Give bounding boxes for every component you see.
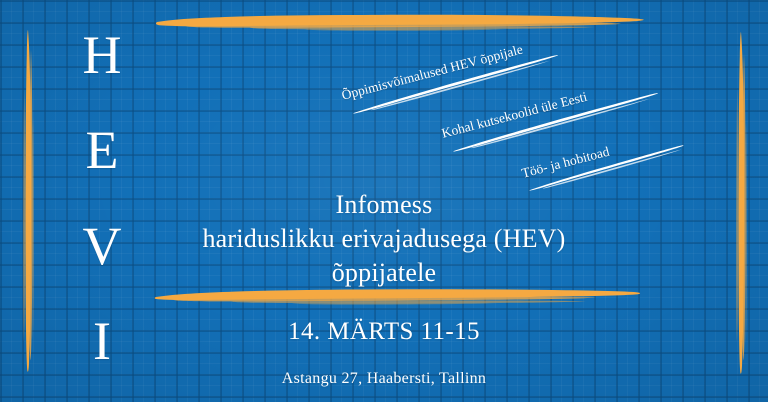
hevi-letter-e: E — [86, 123, 119, 177]
tagline-group: Õppimisvõimalused HEV õppijale Kohal kut… — [330, 38, 690, 188]
tagline-vocational-schools: Kohal kutsekoolid üle Eesti — [440, 89, 589, 142]
orange-brush-stroke-right-icon — [728, 30, 754, 375]
orange-brush-stroke-top-icon — [155, 8, 645, 34]
hevi-letter-v: V — [83, 219, 122, 273]
orange-brush-stroke-left-icon — [16, 28, 42, 373]
hevi-acronym: H E V I — [66, 28, 138, 368]
tagline-learning-opportunities: Õppimisvõimalused HEV õppijale — [340, 42, 525, 104]
event-address: Astangu 27, Haabersti, Tallinn — [144, 370, 624, 388]
tagline-workshops: Töö- ja hobitoad — [520, 144, 611, 182]
hevi-letter-h: H — [83, 28, 122, 82]
poster-canvas: H E V I Õppimisvõimalused HEV õppijale K… — [0, 0, 768, 402]
event-date: 14. MÄRTS 11-15 — [144, 318, 624, 346]
title-line-3: õppijatele — [144, 256, 624, 290]
title-line-1: Infomess — [144, 188, 624, 222]
hevi-letter-i: I — [93, 314, 111, 368]
title-line-2: hariduslikku erivajadusega (HEV) — [144, 222, 624, 256]
page-title: Infomess hariduslikku erivajadusega (HEV… — [144, 188, 624, 289]
